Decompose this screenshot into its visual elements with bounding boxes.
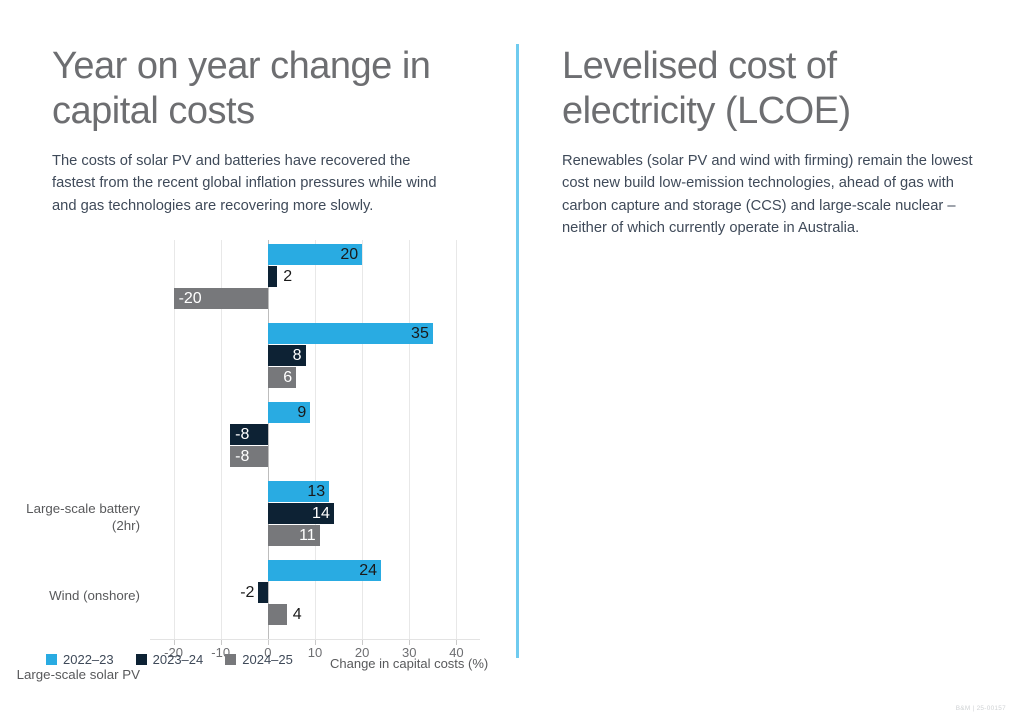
bar-value: 4 [293, 604, 302, 625]
legend-label: 2022–23 [63, 652, 114, 667]
bar-value: 20 [332, 244, 358, 265]
left-panel: Year on year change in capital costs The… [0, 0, 516, 724]
bar-value: -20 [179, 288, 202, 309]
bar-value: 6 [266, 367, 292, 388]
bar-value: 11 [290, 525, 316, 546]
legend-item-3: 2024–25 [225, 652, 293, 667]
right-standfirst: Renewables (solar PV and wind with firmi… [562, 150, 982, 239]
footer-reference: B&M | 25-00157 [956, 705, 1006, 712]
bar-2024-25-5 [268, 604, 287, 625]
category-label-line: Wind (onshore) [0, 587, 140, 604]
category-label: Large-scale solar PV [0, 666, 140, 683]
bar-value: -8 [235, 424, 249, 445]
category-label-line: (2hr) [0, 517, 140, 534]
bar-value: 2 [283, 266, 292, 287]
capital-costs-plot: 202-2035869-8-813141124-24 [150, 240, 480, 640]
infographic-page: Year on year change in capital costs The… [0, 0, 1024, 724]
capital-costs-chart: 202-2035869-8-813141124-24 Large-scale b… [0, 240, 516, 660]
bar-2023-24-5 [258, 582, 267, 603]
gridline-30 [409, 240, 410, 640]
bar-value: 35 [403, 323, 429, 344]
bar-2023-24-1 [268, 266, 277, 287]
legend-label: 2023–24 [153, 652, 204, 667]
category-label: Large-scale battery(2hr) [0, 500, 140, 534]
legend-item-1: 2022–23 [46, 652, 114, 667]
category-label-line: Large-scale battery [0, 500, 140, 517]
capital-costs-legend: 2022–232023–242024–25 [46, 652, 293, 667]
left-standfirst: The costs of solar PV and batteries have… [52, 150, 457, 217]
bar-value: 13 [299, 481, 325, 502]
gridline-40 [456, 240, 457, 640]
bar-value: 14 [304, 503, 330, 524]
legend-label: 2024–25 [242, 652, 293, 667]
bar-value: -8 [235, 446, 249, 467]
legend-swatch [225, 654, 236, 665]
category-label-line: Large-scale solar PV [0, 666, 140, 683]
right-page-title: Levelised cost of electricity (LCOE) [562, 44, 992, 134]
capital-costs-axis-title: Change in capital costs (%) [330, 656, 488, 671]
bar-value: 8 [276, 345, 302, 366]
bar-value: 9 [280, 402, 306, 423]
legend-item-2: 2023–24 [136, 652, 204, 667]
bar-value: -2 [230, 582, 254, 603]
legend-swatch [136, 654, 147, 665]
right-panel: Levelised cost of electricity (LCOE) Ren… [516, 0, 1024, 724]
left-page-title: Year on year change in capital costs [52, 44, 482, 134]
bar-value: 24 [351, 560, 377, 581]
legend-swatch [46, 654, 57, 665]
category-label: Wind (onshore) [0, 587, 140, 604]
